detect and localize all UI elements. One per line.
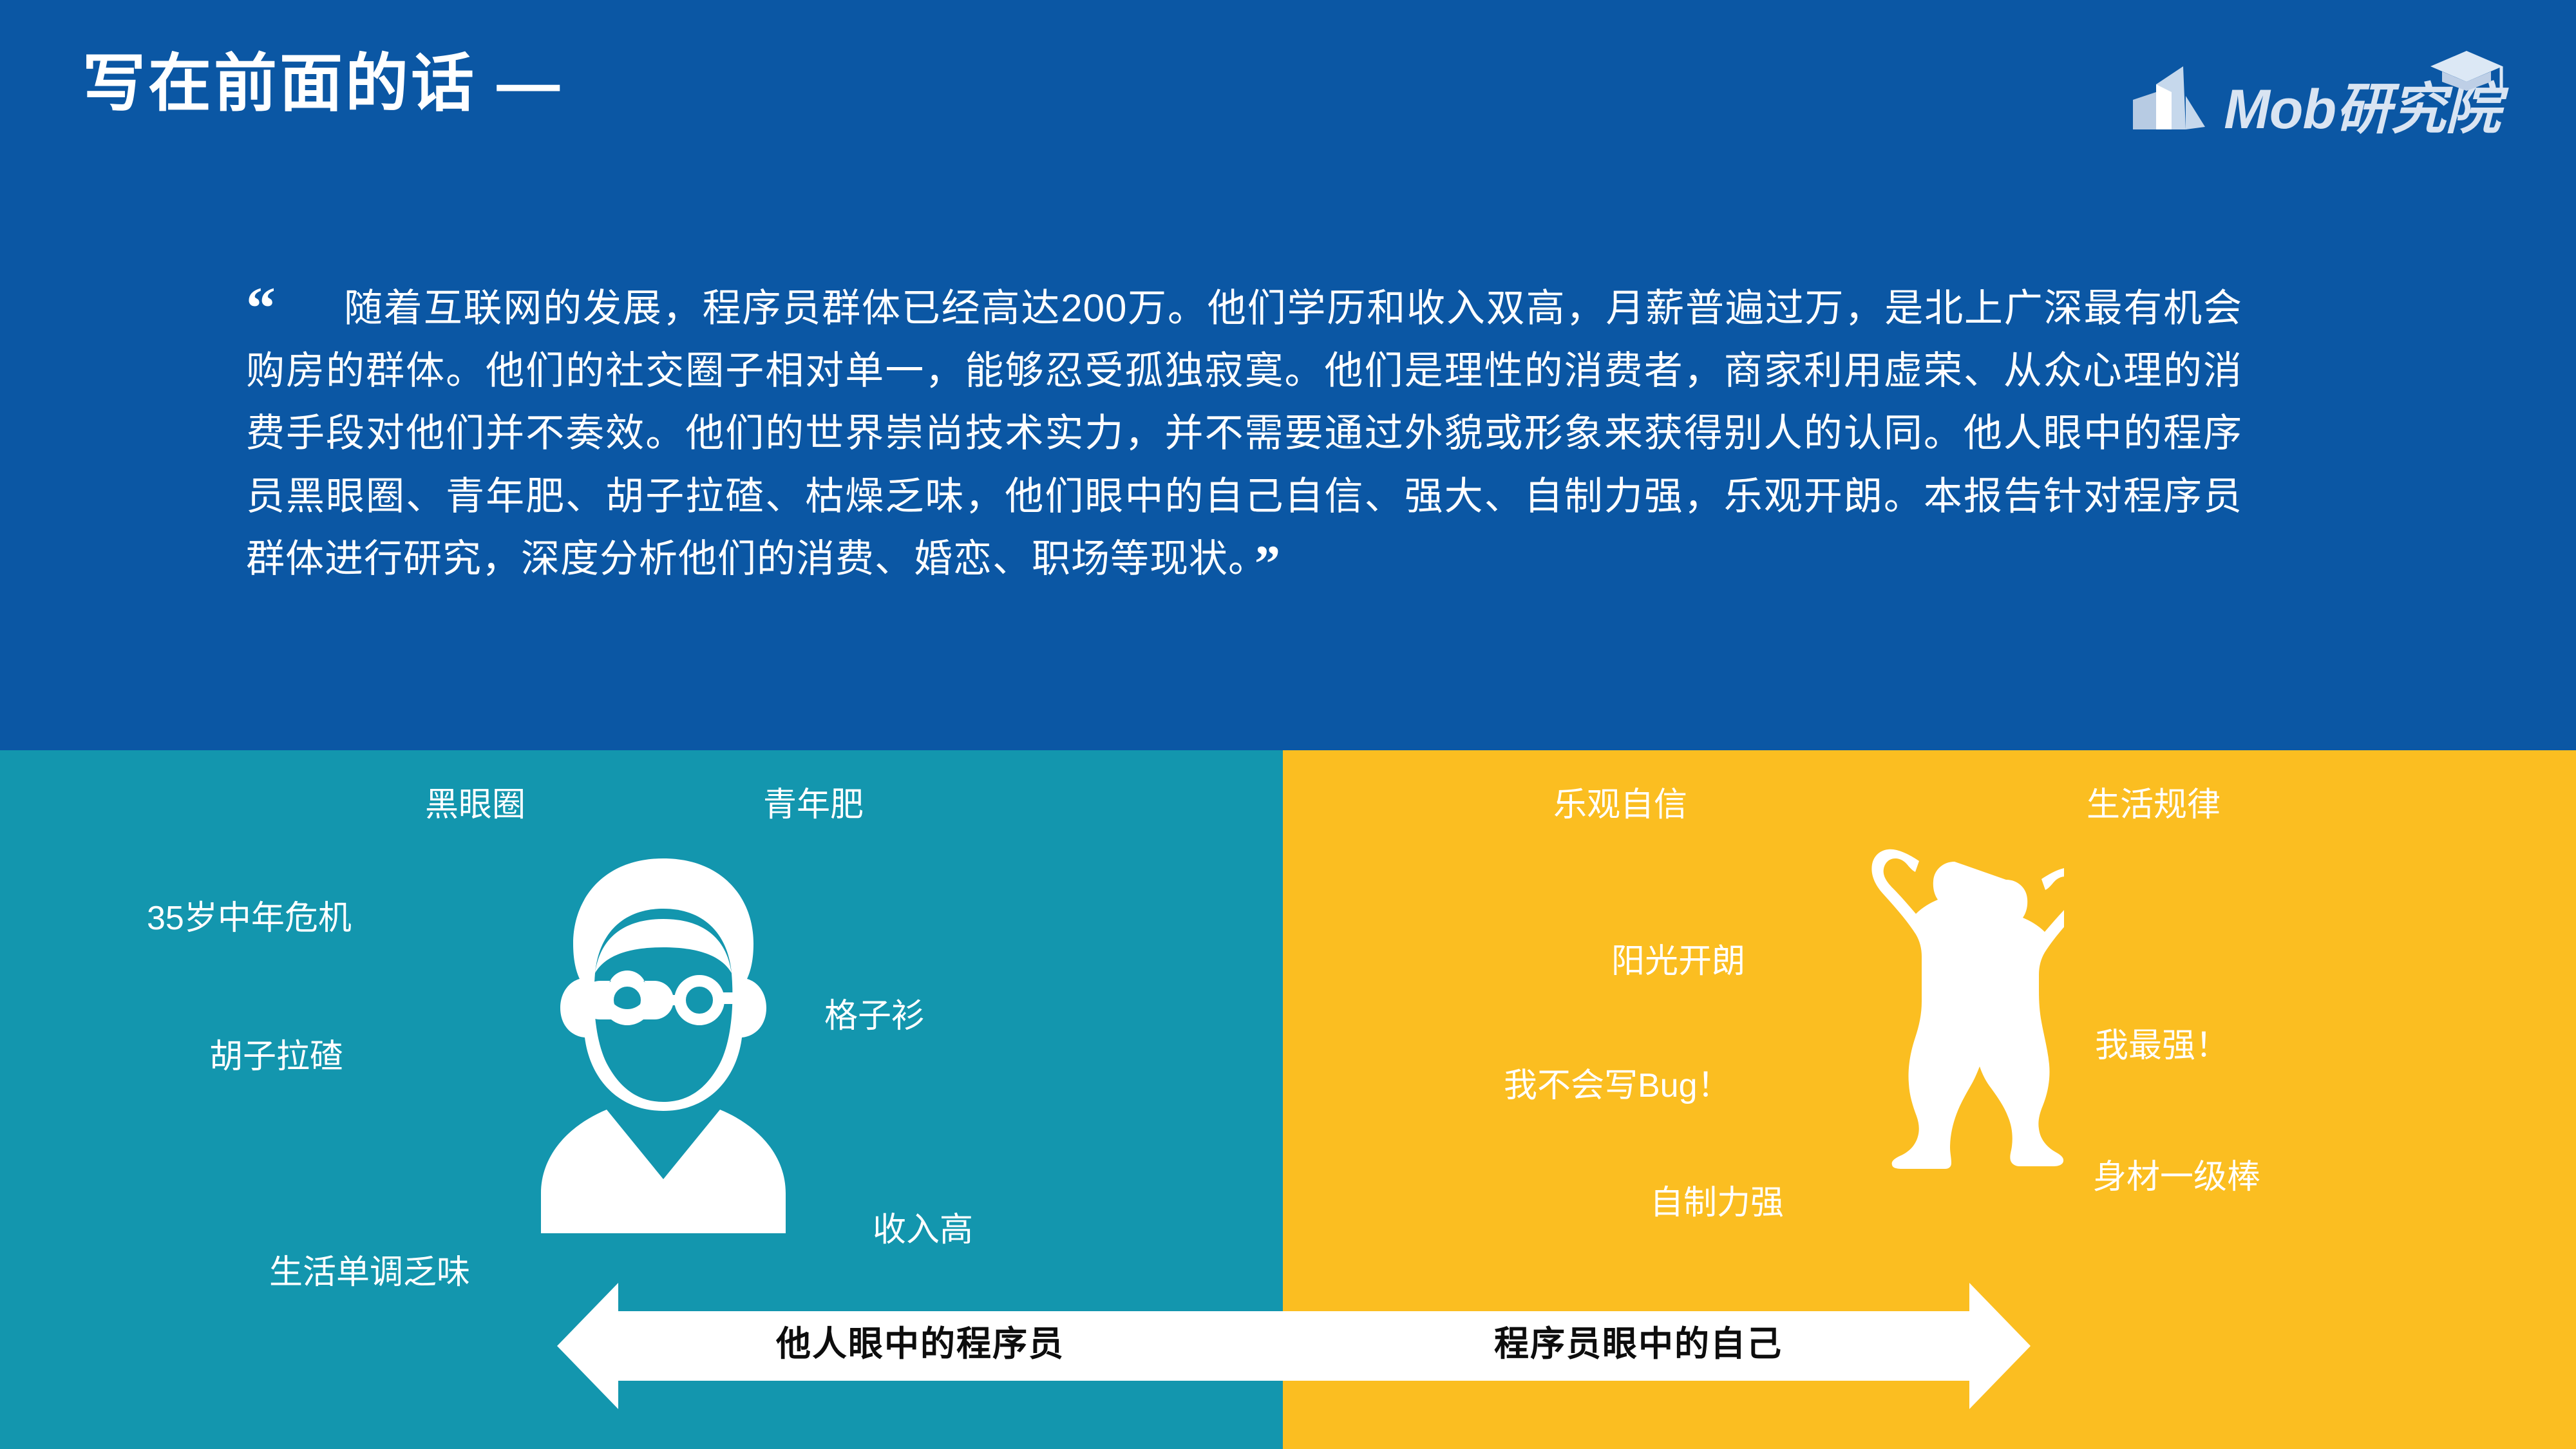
- arrow-label-self-view: 程序员眼中的自己: [1494, 1327, 1783, 1361]
- header-band: 写在前面的话 — Mob研究院: [0, 0, 2576, 750]
- tag-midlife-crisis: 35岁中年危机: [147, 902, 352, 935]
- tag-stubble: 胡子拉碴: [209, 1040, 343, 1074]
- arrow-label-others-view: 他人眼中的程序员: [776, 1327, 1065, 1361]
- double-headed-arrow: [0, 1283, 2576, 1409]
- tag-dark-circles: 黑眼圈: [425, 788, 526, 822]
- tag-plaid-shirt: 格子衫: [824, 999, 925, 1033]
- quote-block: “ 随着互联网的发展，程序员群体已经高达200万。他们学历和收入双高，月薪普遍过…: [246, 277, 2242, 590]
- tag-self-discipline: 自制力强: [1650, 1186, 1784, 1220]
- tag-sunny-cheerful: 阳光开朗: [1611, 945, 1745, 978]
- quote-close-mark: ”: [1255, 536, 1281, 592]
- slide-root: 写在前面的话 — Mob研究院: [0, 0, 2576, 1449]
- tag-young-fat: 青年肥: [763, 788, 864, 822]
- programmer-avatar-icon: [528, 847, 799, 1233]
- quote-text: 随着互联网的发展，程序员群体已经高达200万。他们学历和收入双高，月薪普遍过万，…: [246, 287, 2242, 580]
- tag-im-the-best: 我最强！: [2095, 1029, 2229, 1063]
- tag-no-bugs: 我不会写Bug！: [1504, 1069, 1731, 1103]
- quote-open-mark: “: [246, 278, 276, 337]
- tag-optimistic: 乐观自信: [1553, 788, 1687, 822]
- bodybuilder-icon: [1845, 844, 2064, 1256]
- page-title: 写在前面的话 —: [82, 52, 562, 115]
- quote-paragraph: 随着互联网的发展，程序员群体已经高达200万。他们学历和收入双高，月薪普遍过万，…: [246, 277, 2242, 590]
- brand-logo: Mob研究院: [2133, 50, 2500, 137]
- tag-great-body: 身材一级棒: [2093, 1160, 2260, 1194]
- tag-high-income: 收入高: [873, 1213, 973, 1247]
- tag-regular-life: 生活规律: [2087, 788, 2221, 822]
- building-icon: [2133, 60, 2220, 137]
- logo-wordmark: Mob研究院: [2224, 82, 2500, 137]
- graduation-cap-icon: [2428, 48, 2505, 95]
